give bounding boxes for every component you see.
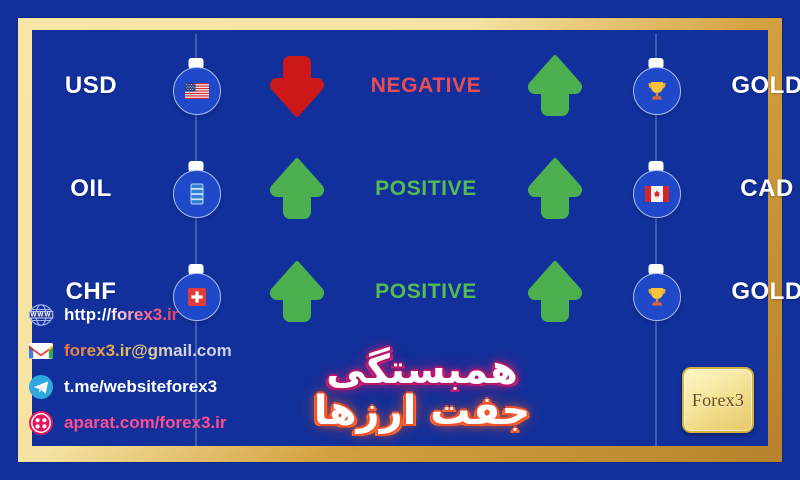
row-1-right-arrow-cell [500,34,610,137]
row-2-left-symbol-cell: OIL [32,137,150,240]
row-1-left-arrow-cell [242,34,352,137]
row-2-left-arrow-cell [242,137,352,240]
row-2-right-arrow-cell [500,137,610,240]
badge-circle [173,67,221,115]
brand-logo[interactable]: Forex3 [682,367,754,433]
contact-row-aparat[interactable]: aparat.com/forex3.ir [28,408,232,437]
contact-aparat-text: aparat.com/forex3.ir [64,413,227,433]
arrow-up-icon [269,158,325,220]
contact-email-text: forex3.ir@gmail.com [64,341,232,361]
row-2-verdict-cell: POSITIVE [352,137,500,240]
arrow-up-icon [527,55,583,117]
status-badge: NEGATIVE [371,74,482,98]
badge-circle [633,170,681,218]
oil-barrel-icon [186,182,208,206]
row-3-left-arrow-cell [242,240,352,343]
row-3-right-arrow-cell [500,240,610,343]
row-3-right-badge-cell [610,240,702,343]
status-badge: POSITIVE [375,177,477,201]
symbol-label: GOLD [731,278,800,306]
badge-trophy[interactable] [633,264,679,320]
symbol-label: OIL [70,175,112,203]
row-2-right-badge-cell [610,137,702,240]
row-3-verdict-cell: POSITIVE [352,240,500,343]
symbol-label: USD [65,72,117,100]
trophy-icon [645,285,669,309]
arrow-down-icon [269,55,325,117]
row-2-left-badge-cell [150,137,242,240]
svg-text:WWW: WWW [30,311,51,318]
status-badge: POSITIVE [375,280,477,304]
badge-circle [633,273,681,321]
badge-circle [633,67,681,115]
row-1-right-symbol-cell: GOLD [702,34,800,137]
trophy-icon [645,79,669,103]
contact-list: WWW http://forex3.ir forex3.ir@gmail.com [28,300,232,437]
symbol-label: GOLD [731,72,800,100]
row-2-right-symbol-cell: CAD [702,137,800,240]
contact-website-text: http://forex3.ir [64,305,178,325]
gmail-icon [28,338,54,364]
badge-circle [173,170,221,218]
www-globe-icon: WWW [28,302,54,328]
row-1-left-symbol-cell: USD [32,34,150,137]
row-4-spacer-b [352,343,500,446]
arrow-up-icon [527,261,583,323]
row-1-verdict-cell: NEGATIVE [352,34,500,137]
row-1-left-badge-cell [150,34,242,137]
brand-logo-text: Forex3 [692,390,744,411]
canada-flag-icon [645,186,669,202]
badge-us-flag[interactable] [173,58,219,114]
contact-telegram-text: t.me/websiteforex3 [64,377,217,397]
telegram-icon [28,374,54,400]
arrow-up-icon [269,261,325,323]
row-4-spacer-c [500,343,610,446]
arrow-up-icon [527,158,583,220]
right-connector-rail [656,343,657,446]
badge-canada-flag[interactable] [633,161,679,217]
aparat-icon [28,410,54,436]
contact-row-email[interactable]: forex3.ir@gmail.com [28,336,232,365]
badge-oil-barrel[interactable] [173,161,219,217]
row-1-right-badge-cell [610,34,702,137]
contact-row-website[interactable]: WWW http://forex3.ir [28,300,232,329]
symbol-label: CAD [740,175,794,203]
row-3-right-symbol-cell: GOLD [702,240,800,343]
row-4-spacer-a [242,343,352,446]
badge-trophy[interactable] [633,58,679,114]
us-flag-icon [185,83,209,99]
infographic-canvas: USD [0,0,800,480]
contact-row-telegram[interactable]: t.me/websiteforex3 [28,372,232,401]
